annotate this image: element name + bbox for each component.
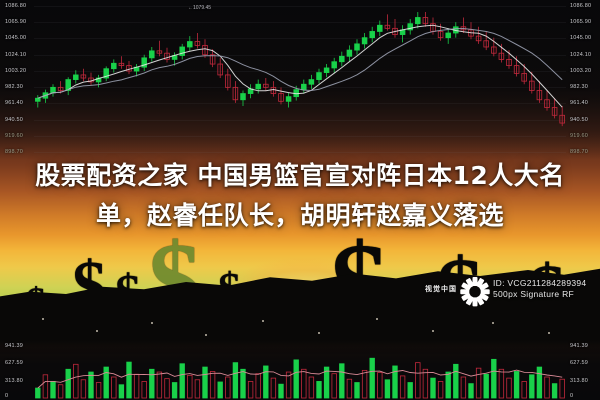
volume-bar	[104, 367, 109, 398]
volume-chart-panel: 941.39627.59313.800 941.39627.59313.800	[0, 340, 600, 400]
volume-bar	[400, 376, 405, 398]
volume-bar	[180, 364, 185, 398]
volume-bar	[271, 378, 276, 398]
volume-bar	[560, 379, 565, 398]
volume-bar	[43, 375, 48, 398]
candle-body	[332, 62, 337, 68]
volume-bar	[507, 378, 512, 398]
candle-body	[324, 68, 329, 73]
volume-bar	[294, 360, 299, 398]
watermark-text-block: ID: VCG211284289394 500px Signature RF	[493, 278, 586, 300]
volume-bar	[279, 384, 284, 398]
volume-bar	[355, 383, 360, 398]
volume-bar	[157, 372, 162, 398]
volume-bar	[431, 378, 436, 398]
watermark-brand-label: 视觉中国	[425, 284, 457, 294]
sparkle-dot	[42, 318, 44, 320]
volume-bar	[552, 384, 557, 398]
volume-bar	[537, 367, 542, 398]
volume-bar	[66, 369, 71, 398]
volume-bar	[469, 384, 474, 398]
price-callout-annotation: ←1079.45	[188, 5, 211, 11]
candle-body	[362, 38, 367, 44]
volume-bar	[210, 371, 215, 398]
volume-bar	[438, 381, 443, 398]
candle-body	[355, 44, 360, 50]
watermark-license: 500px Signature RF	[493, 289, 586, 300]
volume-bar-plot	[0, 340, 600, 400]
volume-bar	[499, 369, 504, 398]
volume-bar	[51, 381, 56, 398]
candle-body	[51, 87, 56, 92]
volume-bar	[150, 369, 155, 398]
headline-line-1: 股票配资之家 中国男篮官宣对阵日本12人大名	[0, 156, 600, 196]
sparkle-dot	[151, 322, 153, 324]
volume-bar	[347, 379, 352, 398]
volume-bar	[340, 364, 345, 398]
volume-bar	[362, 370, 367, 398]
volume-bar	[89, 372, 94, 398]
sparkle-dot	[548, 332, 550, 334]
volume-bar	[142, 381, 147, 398]
volume-bar	[248, 381, 253, 398]
volume-bar	[545, 377, 550, 398]
volume-bar	[264, 366, 269, 398]
volume-bar	[127, 362, 132, 398]
sparkle-dot	[432, 330, 434, 332]
candle-body	[111, 63, 116, 68]
volume-bar	[241, 369, 246, 398]
headline-text: 股票配资之家 中国男篮官宣对阵日本12人大名 单，赵睿任队长，胡明轩赵嘉义落选	[0, 156, 600, 236]
price-chart-panel: 1086.801065.901045.001024.101003.20982.3…	[0, 0, 600, 160]
volume-bar	[74, 364, 79, 398]
volume-bar	[302, 369, 307, 398]
volume-bar	[96, 383, 101, 398]
volume-bar	[332, 374, 337, 398]
volume-bar	[416, 363, 421, 398]
volume-bar	[233, 363, 238, 398]
volume-bar	[423, 369, 428, 398]
candle-body	[301, 84, 306, 89]
watermark: 视觉中国 ID: VCG211284289394 500px Signature…	[425, 276, 586, 302]
sparkle-dot	[205, 334, 207, 336]
volume-bar	[522, 381, 527, 398]
watermark-id: ID: VCG211284289394	[493, 278, 586, 289]
volume-bar	[476, 368, 481, 398]
volume-bar	[172, 383, 177, 398]
volume-bar	[393, 366, 398, 398]
screenshot-canvas: $ $ $ $ $ $ $ $ 1086.801065.901045.00102…	[0, 0, 600, 400]
candle-body	[309, 80, 314, 85]
candlestick-plot	[0, 0, 600, 160]
sparkle-dot	[96, 330, 98, 332]
sparkle-dot	[318, 332, 320, 334]
volume-bar	[165, 379, 170, 398]
volume-bar	[484, 374, 489, 398]
candle-body	[286, 97, 291, 102]
headline-line-2: 单，赵睿任队长，胡明轩赵嘉义落选	[0, 196, 600, 236]
volume-bar	[226, 377, 231, 398]
candle-body	[73, 75, 78, 80]
volume-bar	[58, 385, 63, 398]
volume-bar	[461, 377, 466, 398]
volume-bar	[378, 373, 383, 398]
volume-bar	[309, 377, 314, 398]
volume-bar	[370, 358, 375, 398]
volume-bar	[203, 367, 208, 398]
volume-bar	[408, 383, 413, 398]
sparkle-dot	[262, 320, 264, 322]
sparkle-dot	[376, 318, 378, 320]
candle-body	[187, 42, 192, 47]
volume-bar	[134, 374, 139, 398]
candle-body	[256, 84, 261, 89]
candle-body	[415, 17, 420, 23]
candle-body	[149, 51, 154, 58]
volume-bar	[385, 380, 390, 398]
volume-bar	[514, 371, 519, 398]
volume-bar	[256, 374, 261, 398]
volume-bar	[492, 359, 497, 398]
volume-bar	[195, 380, 200, 398]
candle-body	[446, 33, 451, 38]
volume-bar	[446, 372, 451, 398]
volume-bar	[454, 364, 459, 398]
sparkle-dot	[492, 322, 494, 324]
candle-body	[339, 56, 344, 61]
candle-body	[370, 31, 375, 37]
volume-bar	[530, 375, 535, 398]
candle-body	[35, 98, 40, 101]
volume-bar	[317, 381, 322, 398]
candle-body	[377, 25, 382, 31]
candle-body	[317, 73, 322, 80]
visual-china-burst-icon	[462, 276, 488, 302]
volume-bar	[218, 382, 223, 398]
volume-bar	[112, 377, 117, 398]
candle-body	[241, 94, 246, 100]
candle-body	[180, 47, 185, 56]
volume-bar	[81, 380, 86, 398]
candle-body	[347, 50, 352, 56]
volume-bar	[36, 388, 41, 398]
volume-bar	[188, 375, 193, 398]
volume-bar	[119, 385, 124, 398]
